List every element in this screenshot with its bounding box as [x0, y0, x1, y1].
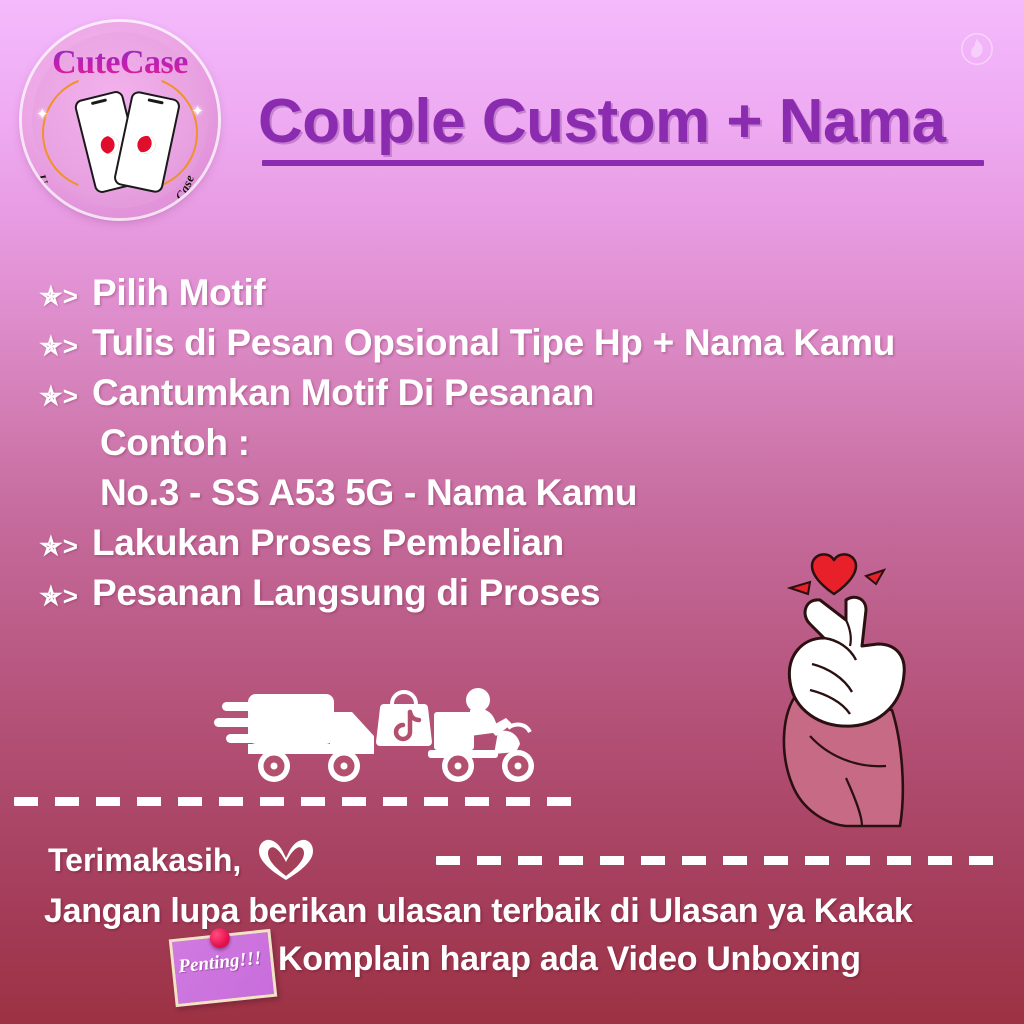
title-underline [262, 160, 984, 166]
step-text: Pilih Motif [92, 272, 265, 314]
phone-c-mark [136, 134, 157, 155]
hands-heart-icon [255, 838, 317, 882]
sparkle-icon-left: ✦ [36, 107, 49, 122]
step-text: Lakukan Proses Pembelian [92, 522, 564, 564]
page-title: Couple Custom + Nama [258, 86, 998, 157]
step-marker-icon: ✯> [40, 581, 92, 612]
brand-logo: CuteCase ✦ ✦ Use a Quality Premium Phone… [22, 22, 218, 218]
list-item: ✯> Tulis di Pesan Opsional Tipe Hp + Nam… [40, 322, 1000, 364]
list-item: ✯> Pilih Motif [40, 272, 1000, 314]
step-text: Pesanan Langsung di Proses [92, 572, 600, 614]
thanks-row: Terimakasih, [48, 838, 317, 882]
tiktok-shopping-bag-icon [376, 692, 432, 746]
review-reminder-text: Jangan lupa berikan ulasan terbaik di Ul… [44, 892, 912, 931]
promo-poster: CuteCase ✦ ✦ Use a Quality Premium Phone… [0, 0, 1024, 1024]
sparkle-icon-right: ✦ [191, 104, 204, 119]
list-item: ✯> Cantumkan Motif Di Pesanan [40, 372, 1000, 414]
step-marker-icon: ✯> [40, 531, 92, 562]
step-text: No.3 - SS A53 5G - Nama Kamu [92, 472, 637, 514]
finger-heart-icon [750, 528, 940, 828]
phone-notch [147, 98, 163, 104]
step-marker-icon: ✯> [40, 381, 92, 412]
scooter-delivery-icon [428, 688, 534, 782]
thanks-text: Terimakasih, [48, 842, 241, 879]
phone-c-mark [99, 134, 121, 156]
step-marker-icon: ✯> [40, 281, 92, 312]
dashed-road-line-top [14, 797, 586, 806]
delivery-icons-group [212, 676, 562, 794]
complain-policy-text: Komplain harap ada Video Unboxing [278, 940, 861, 979]
phone-notch [91, 98, 107, 105]
step-text: Contoh : [92, 422, 250, 464]
circle-flame-watermark-icon [958, 30, 996, 68]
logo-brand-name: CuteCase [22, 46, 218, 80]
list-item: No.3 - SS A53 5G - Nama Kamu [40, 472, 1000, 514]
dashed-road-line-bottom [436, 856, 1010, 865]
step-text: Cantumkan Motif Di Pesanan [92, 372, 594, 414]
step-marker-icon: ✯> [40, 331, 92, 362]
step-text: Tulis di Pesan Opsional Tipe Hp + Nama K… [92, 322, 895, 364]
list-item: Contoh : [40, 422, 1000, 464]
